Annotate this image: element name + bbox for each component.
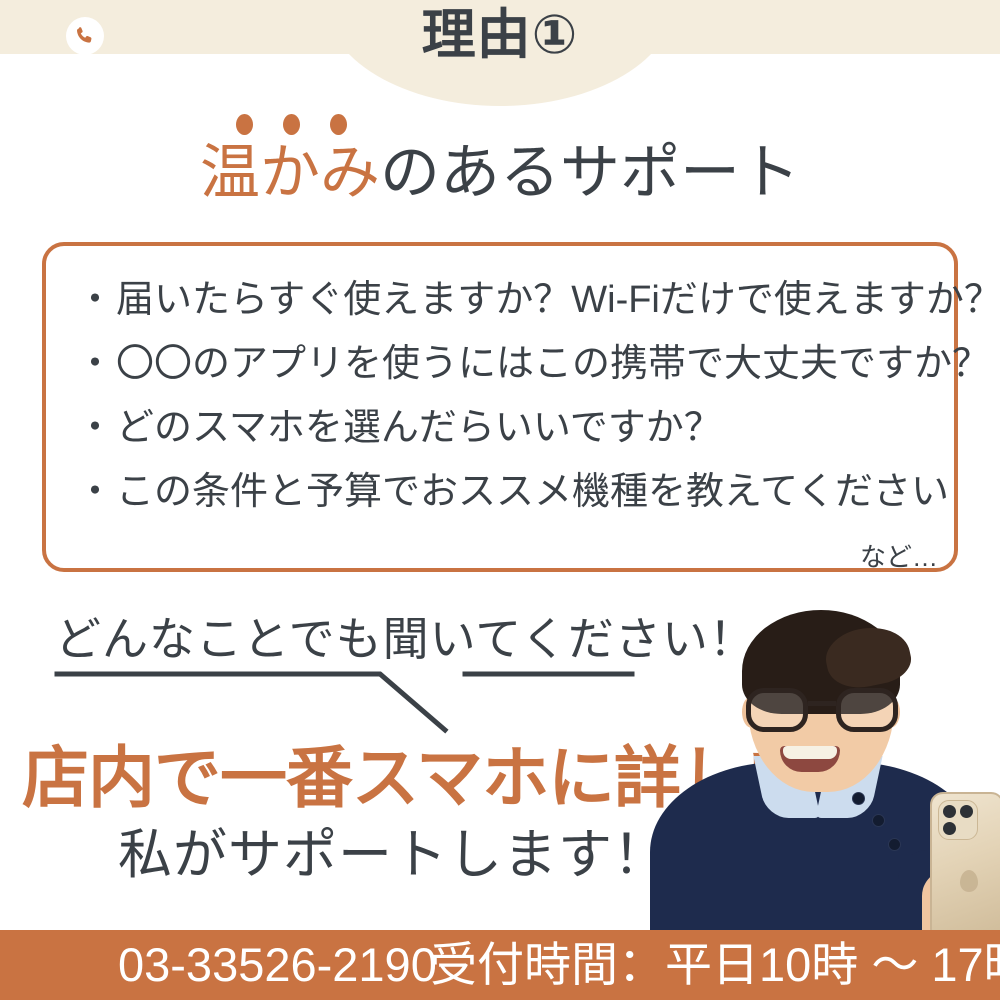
glasses-lens-left bbox=[746, 688, 808, 732]
bullet-marker: ・ bbox=[76, 471, 114, 513]
staff-photo bbox=[630, 570, 1000, 950]
camera-lens bbox=[960, 805, 973, 818]
page-title: 理由① bbox=[0, 8, 1000, 62]
list-item-label: この条件と予算でおススメ機種を教えてください bbox=[116, 471, 949, 513]
smartphone-icon bbox=[930, 792, 1000, 942]
button-dot bbox=[872, 814, 885, 827]
camera-lens bbox=[943, 822, 956, 835]
camera-module-icon bbox=[938, 800, 978, 840]
bullet-marker: ・ bbox=[76, 407, 114, 449]
glasses-lens-right bbox=[836, 688, 898, 732]
phone-number[interactable]: 03-33526-2190 bbox=[118, 935, 437, 995]
emphasis-dot bbox=[236, 114, 253, 135]
phone-glyph bbox=[73, 24, 97, 48]
camera-lens bbox=[943, 805, 956, 818]
subtitle: 温かみのあるサポート bbox=[0, 140, 1000, 206]
glasses-bridge bbox=[808, 701, 836, 706]
etc-label: など… bbox=[860, 537, 938, 574]
question-list: ・届いたらすぐ使えますか？Wi-Fiだけで使えますか？ ・〇〇のアプリを使うには… bbox=[76, 268, 936, 524]
list-item: ・届いたらすぐ使えますか？Wi-Fiだけで使えますか？ bbox=[76, 268, 936, 332]
emphasis-dots bbox=[236, 114, 356, 140]
list-item: ・この条件と予算でおススメ機種を教えてください bbox=[76, 460, 936, 524]
sub-headline: 私がサポートします！ bbox=[118, 828, 668, 882]
teeth bbox=[783, 746, 837, 759]
poster-root: 理由① 温かみのあるサポート ・届いたらすぐ使えますか？Wi-Fiだけで使えます… bbox=[0, 0, 1000, 1000]
list-item-label: 〇〇のアプリを使うにはこの携帯で大丈夫ですか？ bbox=[116, 343, 990, 385]
list-item-label: 届いたらすぐ使えますか？Wi-Fiだけで使えますか？ bbox=[116, 279, 1000, 321]
subtitle-rest: のあるサポート bbox=[380, 139, 800, 206]
subtitle-highlight: 温かみ bbox=[200, 139, 380, 206]
button-dot bbox=[888, 838, 901, 851]
bullet-marker: ・ bbox=[76, 279, 114, 321]
list-item-label: どのスマホを選んだらいいですか？ bbox=[116, 407, 722, 449]
emphasis-dot bbox=[330, 114, 347, 135]
emphasis-dot bbox=[283, 114, 300, 135]
list-item: ・〇〇のアプリを使うにはこの携帯で大丈夫ですか？ bbox=[76, 332, 936, 396]
button-dot bbox=[852, 792, 865, 805]
bullet-marker: ・ bbox=[76, 343, 114, 385]
apple-logo-icon bbox=[960, 870, 978, 892]
business-hours: 受付時間：平日10時 〜 17時 bbox=[430, 935, 1000, 995]
phone-handset-icon[interactable] bbox=[66, 17, 104, 55]
glasses-icon bbox=[744, 688, 900, 732]
speech-tail-rule bbox=[40, 660, 660, 740]
list-item: ・どのスマホを選んだらいいですか？ bbox=[76, 396, 936, 460]
question-box: ・届いたらすぐ使えますか？Wi-Fiだけで使えますか？ ・〇〇のアプリを使うには… bbox=[42, 242, 958, 572]
